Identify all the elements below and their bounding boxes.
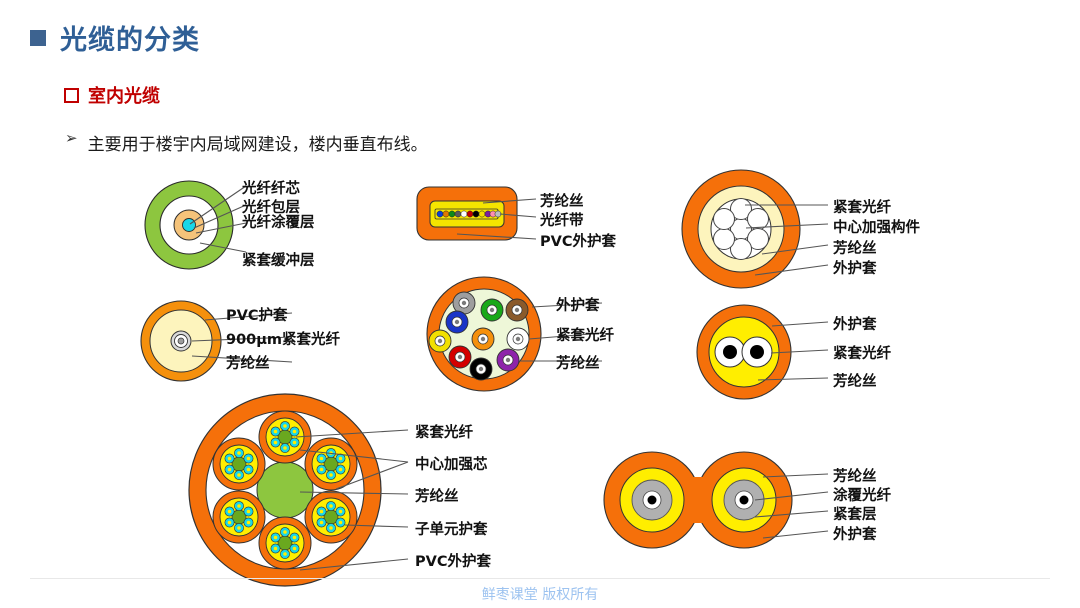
footer-copyright: 鲜枣课堂 版权所有 [0, 584, 1080, 604]
label-coated-fiber-figure8: 涂覆光纤 [833, 484, 891, 505]
slide-canvas: 光缆的分类 室内光缆 ➢ 主要用于楼宇内局域网建设，楼内垂直布线。 光纤纤芯 光… [0, 0, 1080, 608]
label-outer-jacket-figure8: 外护套 [833, 523, 877, 544]
label-tight-buffer-figure8: 紧套层 [833, 503, 877, 524]
diagram-figure8-cable [0, 0, 1080, 608]
footer-divider [30, 578, 1050, 579]
label-aramid-figure8: 芳纶丝 [833, 465, 877, 486]
